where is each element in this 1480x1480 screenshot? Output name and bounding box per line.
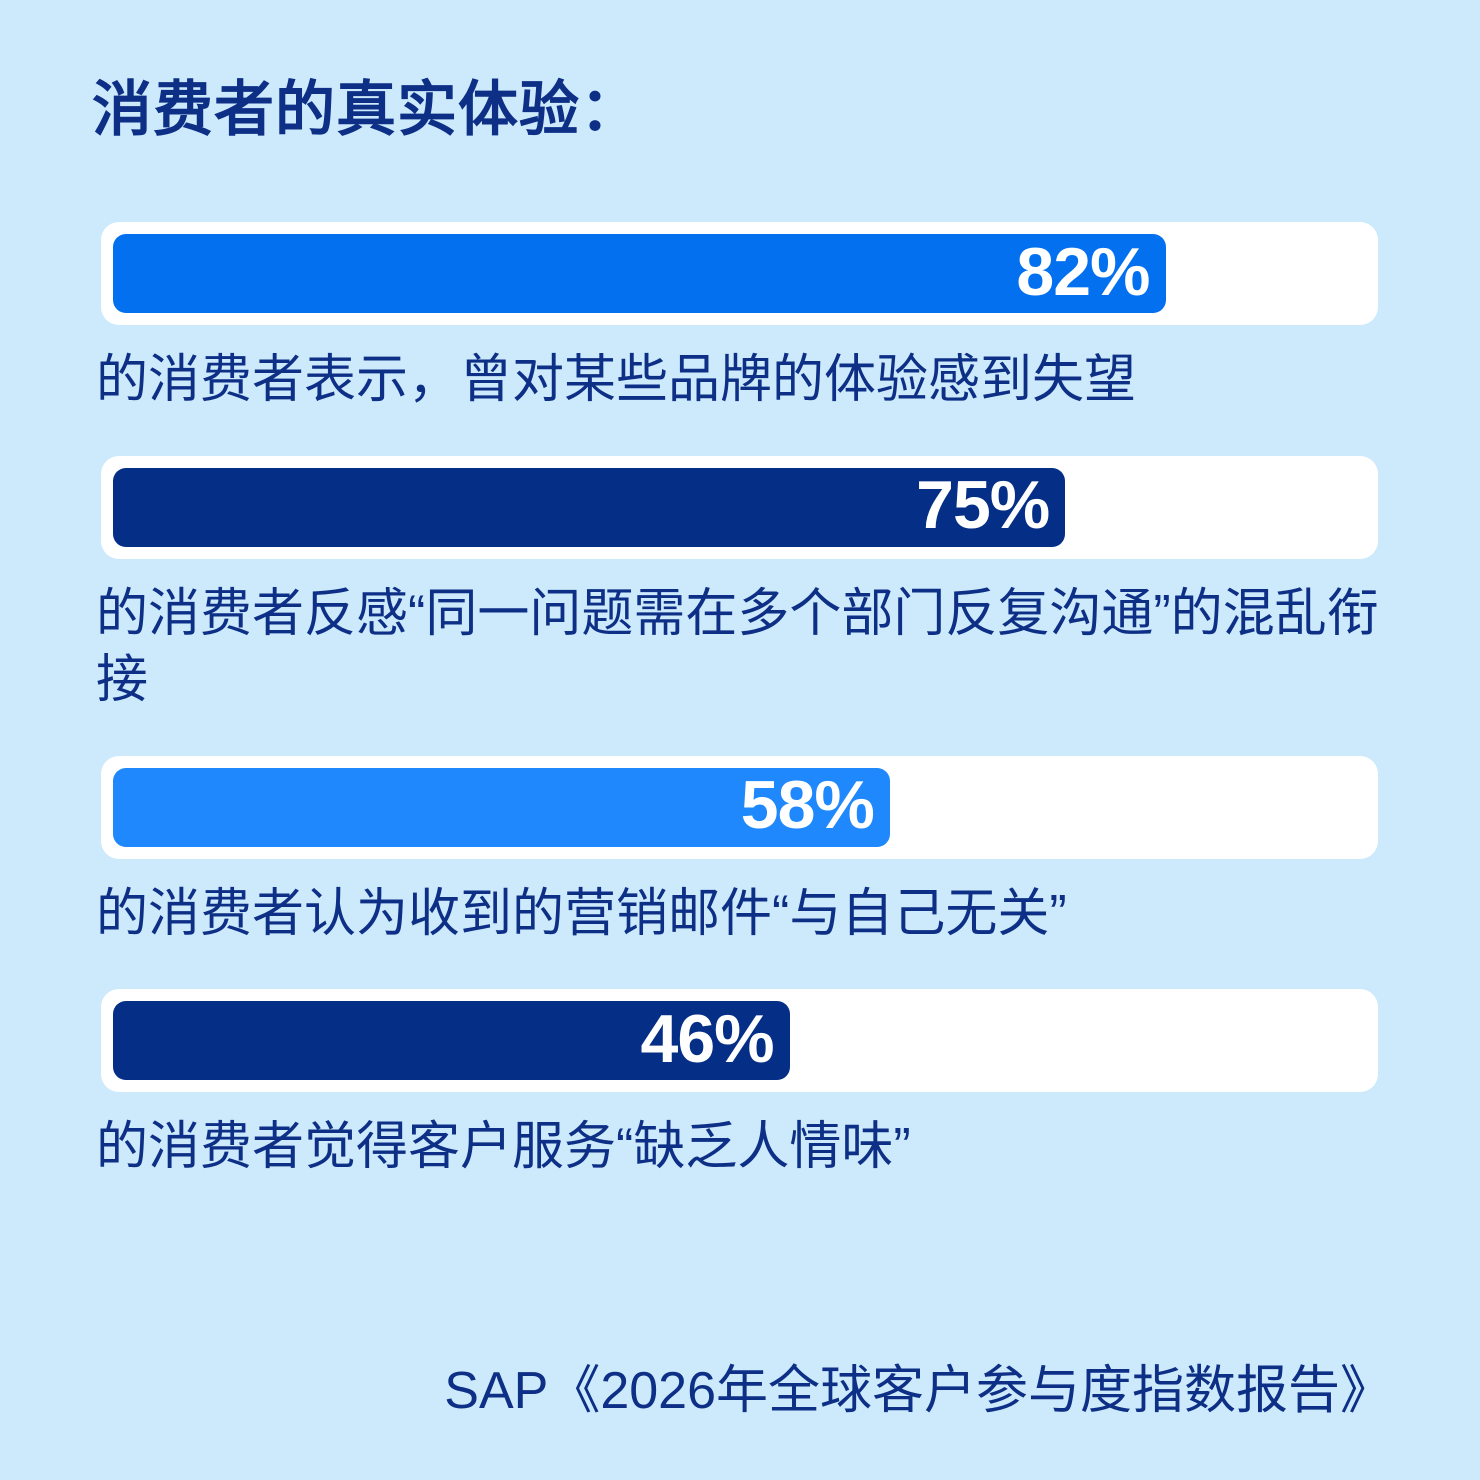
bar-track-1: 82% bbox=[101, 222, 1378, 325]
stat-block-4: 46% 的消费者觉得客户服务“缺乏人情味” bbox=[0, 989, 1480, 1181]
bar-track-4: 46% bbox=[101, 989, 1378, 1092]
bar-fill-3: 58% bbox=[113, 768, 890, 847]
stat-block-3: 58% 的消费者认为收到的营销邮件“与自己无关” bbox=[0, 756, 1480, 948]
bar-track-3: 58% bbox=[101, 756, 1378, 859]
source-attribution: SAP《2026年全球客户参与度指数报告》 bbox=[444, 1360, 1392, 1422]
bar-fill-1: 82% bbox=[113, 234, 1166, 313]
stat-block-1: 82% 的消费者表示，曾对某些品牌的体验感到失望 bbox=[0, 222, 1480, 414]
stat-block-2: 75% 的消费者反感“同一问题需在多个部门反复沟通”的混乱衔接 bbox=[0, 456, 1480, 714]
bar-caption-2: 的消费者反感“同一问题需在多个部门反复沟通”的混乱衔接 bbox=[96, 581, 1396, 714]
page-title: 消费者的真实体验： bbox=[92, 74, 641, 146]
stats-list: 82% 的消费者表示，曾对某些品牌的体验感到失望 75% 的消费者反感“同一问题… bbox=[0, 222, 1480, 1181]
bar-fill-2: 75% bbox=[113, 468, 1065, 547]
bar-track-2: 75% bbox=[101, 456, 1378, 559]
bar-value-4: 46% bbox=[641, 1005, 774, 1073]
bar-caption-1: 的消费者表示，曾对某些品牌的体验感到失望 bbox=[96, 347, 1396, 414]
bar-caption-4: 的消费者觉得客户服务“缺乏人情味” bbox=[96, 1114, 1396, 1181]
bar-value-3: 58% bbox=[741, 771, 874, 839]
bar-fill-4: 46% bbox=[113, 1001, 790, 1080]
bar-value-1: 82% bbox=[1016, 238, 1149, 306]
bar-caption-3: 的消费者认为收到的营销邮件“与自己无关” bbox=[96, 881, 1396, 948]
infographic-root: 消费者的真实体验： 82% 的消费者表示，曾对某些品牌的体验感到失望 75% 的… bbox=[0, 0, 1480, 1480]
bar-value-2: 75% bbox=[916, 471, 1049, 539]
